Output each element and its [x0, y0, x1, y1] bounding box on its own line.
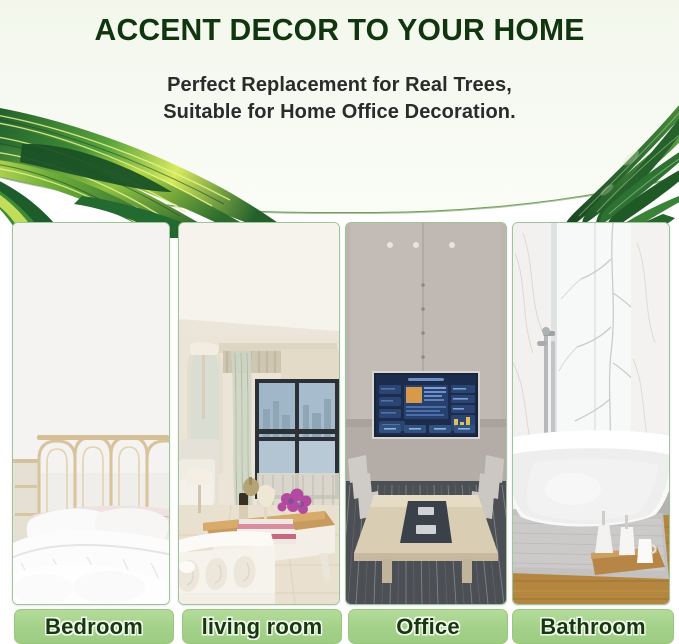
label-text-living-room: living room: [202, 614, 323, 640]
label-pill-bedroom[interactable]: Bedroom: [14, 609, 174, 644]
marketing-banner: Bedroom living room Office Bathroom ACCE…: [0, 0, 679, 644]
subtitle-line-1: Perfect Replacement for Real Trees,: [167, 74, 512, 96]
label-text-bedroom: Bedroom: [45, 614, 143, 640]
page-title: ACCENT DECOR TO YOUR HOME: [10, 12, 669, 48]
label-text-bathroom: Bathroom: [540, 614, 646, 640]
office-scene: [346, 223, 506, 604]
room-panel-bedroom[interactable]: [12, 222, 170, 605]
label-pill-bathroom[interactable]: Bathroom: [512, 609, 674, 644]
bedroom-scene: [13, 223, 169, 604]
label-pill-living-room[interactable]: living room: [182, 609, 342, 644]
page-subtitle: Perfect Replacement for Real Trees, Suit…: [0, 72, 679, 126]
label-pill-office[interactable]: Office: [348, 609, 508, 644]
label-text-office: Office: [396, 614, 460, 640]
subtitle-line-2: Suitable for Home Office Decoration.: [0, 99, 679, 126]
bathroom-scene: [513, 223, 669, 604]
room-panel-row: [0, 218, 679, 604]
room-panel-office[interactable]: [345, 222, 507, 605]
room-panel-bathroom[interactable]: [512, 222, 670, 605]
living-room-scene: [179, 223, 339, 604]
room-label-row: Bedroom living room Office Bathroom: [0, 609, 679, 644]
room-panel-living-room[interactable]: [178, 222, 340, 605]
